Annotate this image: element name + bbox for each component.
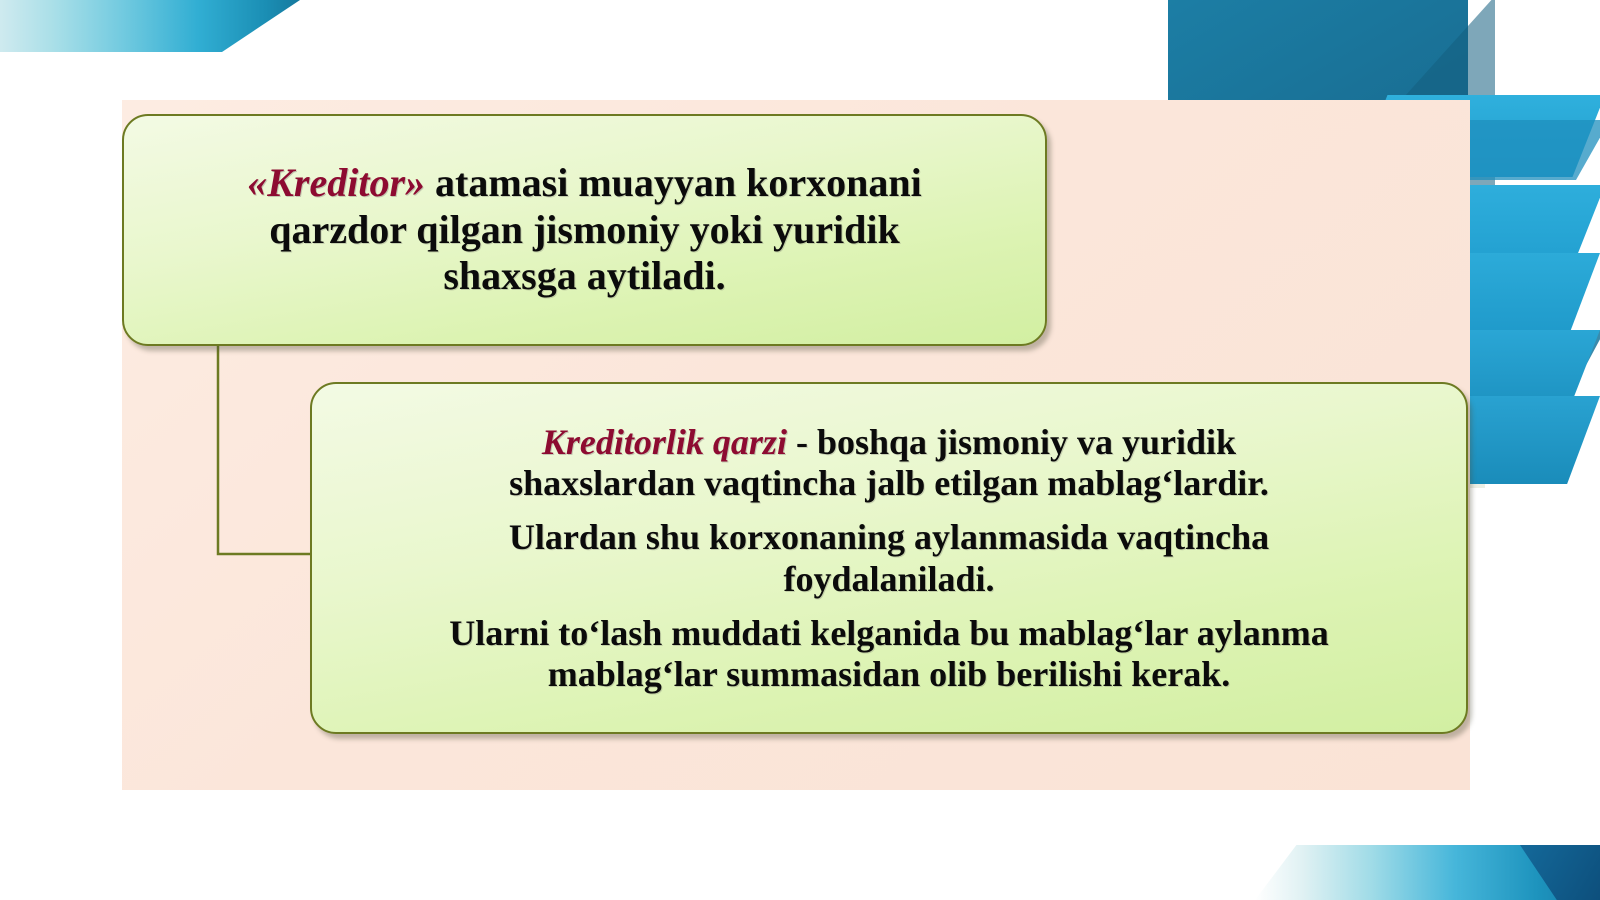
box-bottom-p1-line-1: Kreditorlik qarzi - boshqa jismoniy va y… — [342, 422, 1436, 462]
box-bottom-p3-line-2: mablag‘lar summasidan olib berilishi ker… — [342, 654, 1436, 694]
box-top-line-1: «Kreditor» atamasi muayyan korxonani — [158, 161, 1011, 206]
box-bottom-paragraph-2: Ulardan shu korxonaning aylanmasida vaqt… — [342, 516, 1436, 600]
box-top-line-1-text: atamasi muayyan korxonani — [425, 160, 922, 205]
definition-box-kreditor[interactable]: «Kreditor» atamasi muayyan korxonani qar… — [122, 114, 1047, 346]
box-bottom-p2-line-1-text: Ulardan shu korxonaning aylanmasida vaqt… — [509, 517, 1269, 557]
box-bottom-p1-line-2-text: shaxslardan vaqtincha jalb etilgan mabla… — [509, 463, 1269, 503]
box-bottom-p2-line-2-text: foydalaniladi. — [783, 559, 994, 599]
box-bottom-p3-line-2-text: mablag‘lar summasidan olib berilishi ker… — [548, 654, 1230, 694]
term-kreditor: «Kreditor» — [247, 160, 425, 205]
box-top-line-2-text: qarzdor qilgan jismoniy yoki yuridik — [269, 207, 900, 252]
box-bottom-p3-line-1: Ularni to‘lash muddati kelganida bu mabl… — [342, 613, 1436, 653]
box-top-line-3-text: shaxsga aytiladi. — [443, 253, 725, 298]
box-bottom-paragraph-3: Ularni to‘lash muddati kelganida bu mabl… — [342, 612, 1436, 696]
definition-box-kreditorlik-qarzi[interactable]: Kreditorlik qarzi - boshqa jismoniy va y… — [310, 382, 1468, 734]
box-bottom-paragraph-1: Kreditorlik qarzi - boshqa jismoniy va y… — [342, 421, 1436, 505]
term-kreditorlik-qarzi: Kreditorlik qarzi — [542, 422, 787, 462]
box-bottom-p1-line-1-text: - boshqa jismoniy va yuridik — [787, 422, 1236, 462]
box-bottom-p2-line-2: foydalaniladi. — [342, 559, 1436, 599]
box-top-line-3: shaxsga aytiladi. — [158, 254, 1011, 299]
connector-path — [218, 330, 312, 554]
box-bottom-p2-line-1: Ulardan shu korxonaning aylanmasida vaqt… — [342, 517, 1436, 557]
slide-canvas: «Kreditor» atamasi muayyan korxonani qar… — [0, 0, 1600, 900]
box-bottom-p1-line-2: shaxslardan vaqtincha jalb etilgan mabla… — [342, 463, 1436, 503]
box-bottom-p3-line-1-text: Ularni to‘lash muddati kelganida bu mabl… — [449, 613, 1329, 653]
box-top-line-2: qarzdor qilgan jismoniy yoki yuridik — [158, 208, 1011, 253]
top-left-banner-decoration — [0, 0, 300, 52]
